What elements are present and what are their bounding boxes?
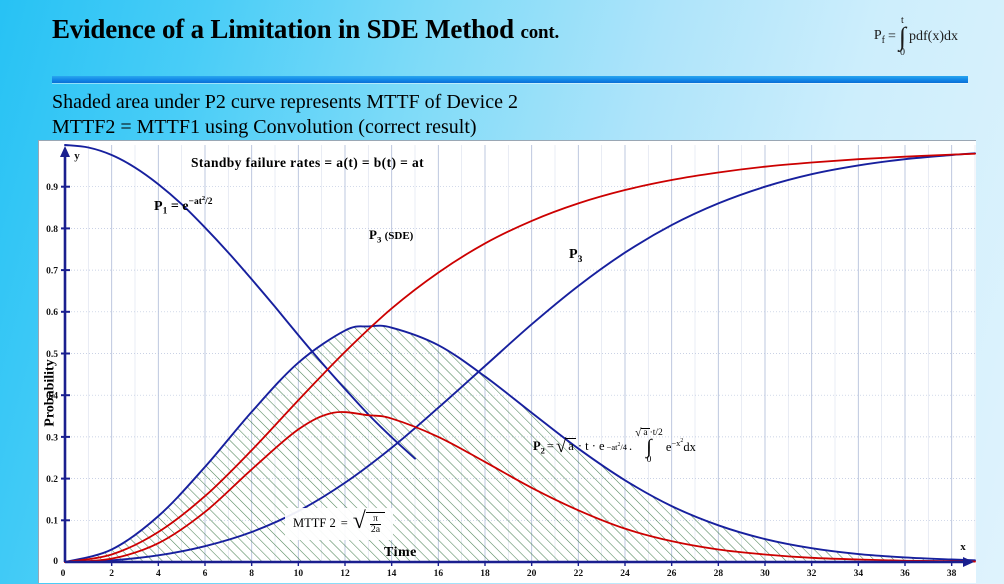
svg-text:30: 30 bbox=[760, 569, 770, 579]
svg-text:0.6: 0.6 bbox=[46, 308, 58, 318]
pf-formula-integral: t ∫ 0 bbox=[899, 16, 906, 58]
title-divider bbox=[52, 76, 968, 83]
p3-sde-label-annotation: P3 (SDE) bbox=[369, 227, 413, 245]
pf-formula-integrand: pdf(x)dx bbox=[909, 29, 958, 45]
page-title: Evidence of a Limitation in SDE Method c… bbox=[52, 14, 559, 45]
svg-text:0: 0 bbox=[53, 557, 58, 567]
svg-text:0.7: 0.7 bbox=[46, 267, 58, 277]
svg-text:24: 24 bbox=[620, 569, 630, 579]
svg-text:x: x bbox=[960, 541, 966, 553]
chart-container: 246810121416182022242628303234363800.10.… bbox=[38, 140, 976, 583]
pf-formula-equals: = bbox=[888, 29, 896, 45]
svg-text:14: 14 bbox=[387, 569, 397, 579]
svg-text:18: 18 bbox=[480, 569, 490, 579]
svg-text:20: 20 bbox=[527, 569, 537, 579]
page-title-main: Evidence of a Limitation in SDE Method bbox=[52, 14, 514, 44]
bullet-list: Shaded area under P2 curve represents MT… bbox=[52, 90, 952, 140]
mttf2-formula-annotation: MTTF 2 = √ π2a bbox=[285, 508, 393, 540]
standby-rates-annotation: Standby failure rates = a(t) = b(t) = at bbox=[191, 155, 424, 171]
svg-text:0: 0 bbox=[61, 569, 66, 579]
svg-text:16: 16 bbox=[434, 569, 444, 579]
svg-text:0.1: 0.1 bbox=[46, 517, 58, 527]
y-axis-title: Probability bbox=[43, 359, 59, 426]
svg-text:22: 22 bbox=[574, 569, 584, 579]
x-axis-title: Time bbox=[384, 545, 417, 561]
svg-text:0.9: 0.9 bbox=[46, 183, 58, 193]
integral-sign-icon: ∫ bbox=[899, 26, 906, 48]
svg-text:6: 6 bbox=[203, 569, 208, 579]
svg-text:26: 26 bbox=[667, 569, 677, 579]
shaded-area-p2 bbox=[65, 326, 975, 562]
svg-text:32: 32 bbox=[807, 569, 817, 579]
svg-text:0.8: 0.8 bbox=[46, 225, 58, 235]
p2-formula-annotation: P2 = √a · t · e−at2/4 . √a·t/2 ∫ 0 e−x2d… bbox=[533, 428, 696, 466]
bullet-item-2: MTTF2 = MTTF1 using Convolution (correct… bbox=[52, 115, 952, 140]
pf-formula-lhs: Pf bbox=[874, 28, 885, 46]
svg-text:34: 34 bbox=[854, 569, 864, 579]
svg-text:12: 12 bbox=[340, 569, 350, 579]
svg-text:0.2: 0.2 bbox=[46, 475, 58, 485]
p3-label-annotation: P3 bbox=[569, 247, 582, 265]
svg-text:38: 38 bbox=[947, 569, 957, 579]
integral-lower-limit: 0 bbox=[900, 48, 905, 58]
svg-text:4: 4 bbox=[156, 569, 161, 579]
svg-text:36: 36 bbox=[900, 569, 910, 579]
page-title-suffix: cont. bbox=[520, 22, 559, 43]
svg-text:28: 28 bbox=[714, 569, 724, 579]
svg-text:y: y bbox=[74, 150, 80, 162]
svg-text:2: 2 bbox=[109, 569, 114, 579]
svg-text:10: 10 bbox=[294, 569, 304, 579]
svg-text:8: 8 bbox=[249, 569, 254, 579]
p1-label-annotation: P1 = e−at2/2 bbox=[154, 195, 213, 217]
svg-text:0.3: 0.3 bbox=[46, 433, 58, 443]
bullet-item-1: Shaded area under P2 curve represents MT… bbox=[52, 90, 952, 115]
pf-formula: Pf = t ∫ 0 pdf(x)dx bbox=[874, 16, 958, 58]
